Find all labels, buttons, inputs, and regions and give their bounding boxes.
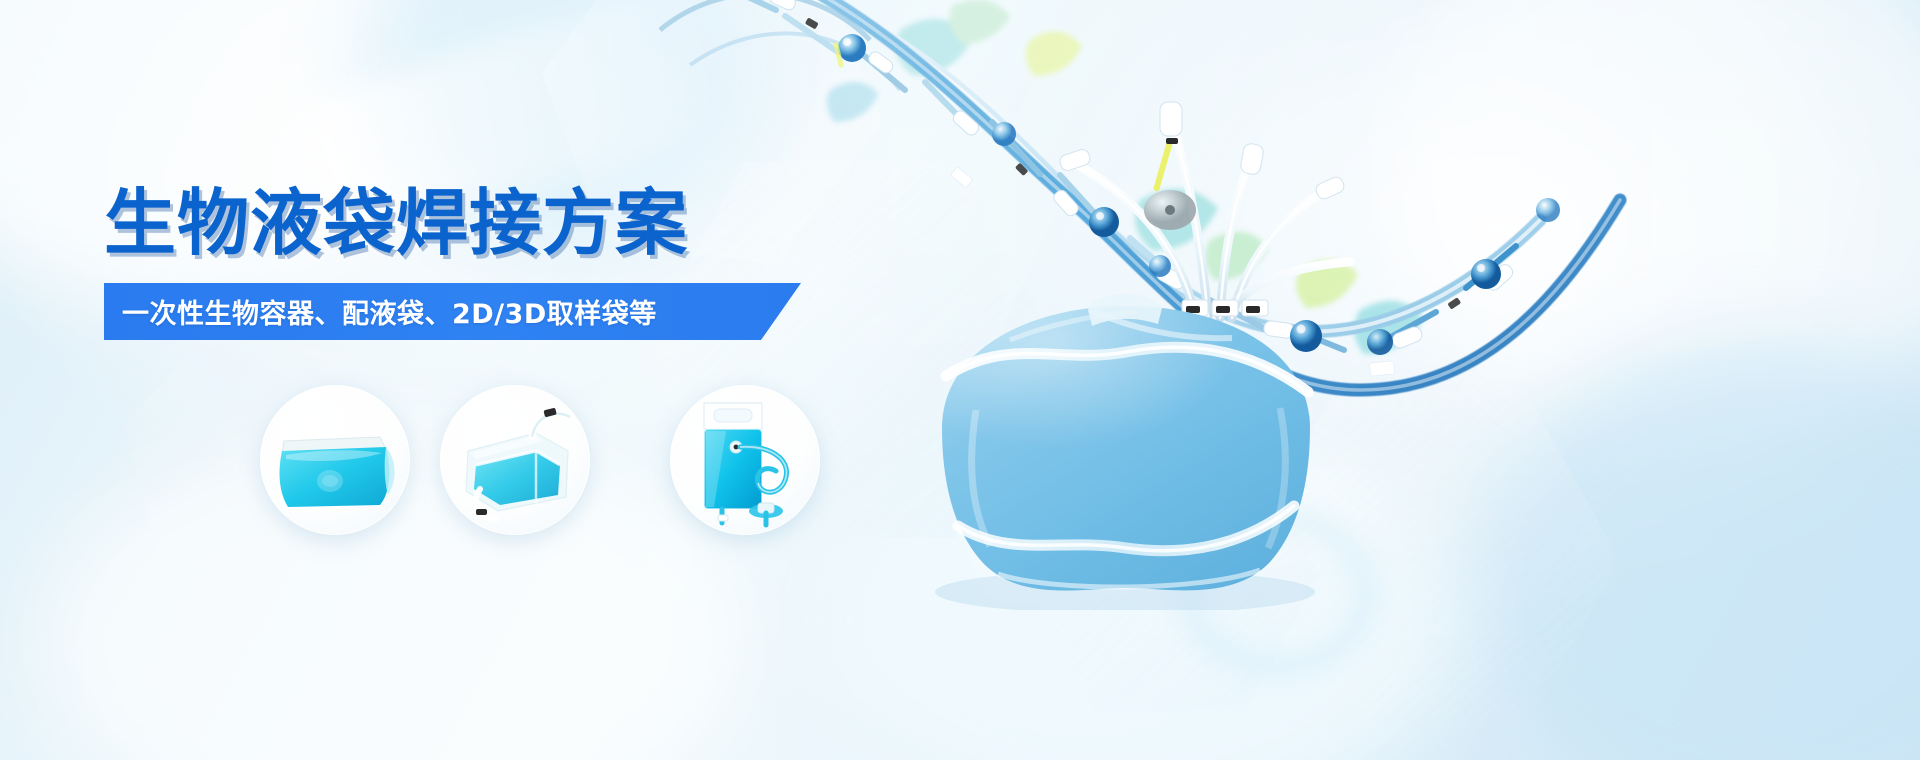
2d-sampling-bag-icon — [670, 385, 820, 535]
thumbnail-circle-3[interactable] — [670, 385, 820, 535]
single-use-bioreactor-bag — [880, 280, 1360, 610]
page-title: 生物液袋焊接方案 — [104, 182, 688, 264]
3d-mixing-bag-icon — [440, 385, 590, 535]
subtitle-text: 一次性生物容器、配液袋、2D/3D取样袋等 — [122, 292, 657, 331]
thumbnail-circle-1[interactable] — [260, 385, 410, 535]
hexagon-shape — [1537, 36, 1887, 378]
thumbnail-circle-2[interactable] — [440, 385, 590, 535]
product-banner: 生物液袋焊接方案 一次性生物容器、配液袋、2D/3D取样袋等 — [0, 0, 1920, 760]
subtitle-bar: 一次性生物容器、配液袋、2D/3D取样袋等 — [104, 283, 801, 340]
disposable-bio-container-bag-icon — [260, 385, 410, 535]
